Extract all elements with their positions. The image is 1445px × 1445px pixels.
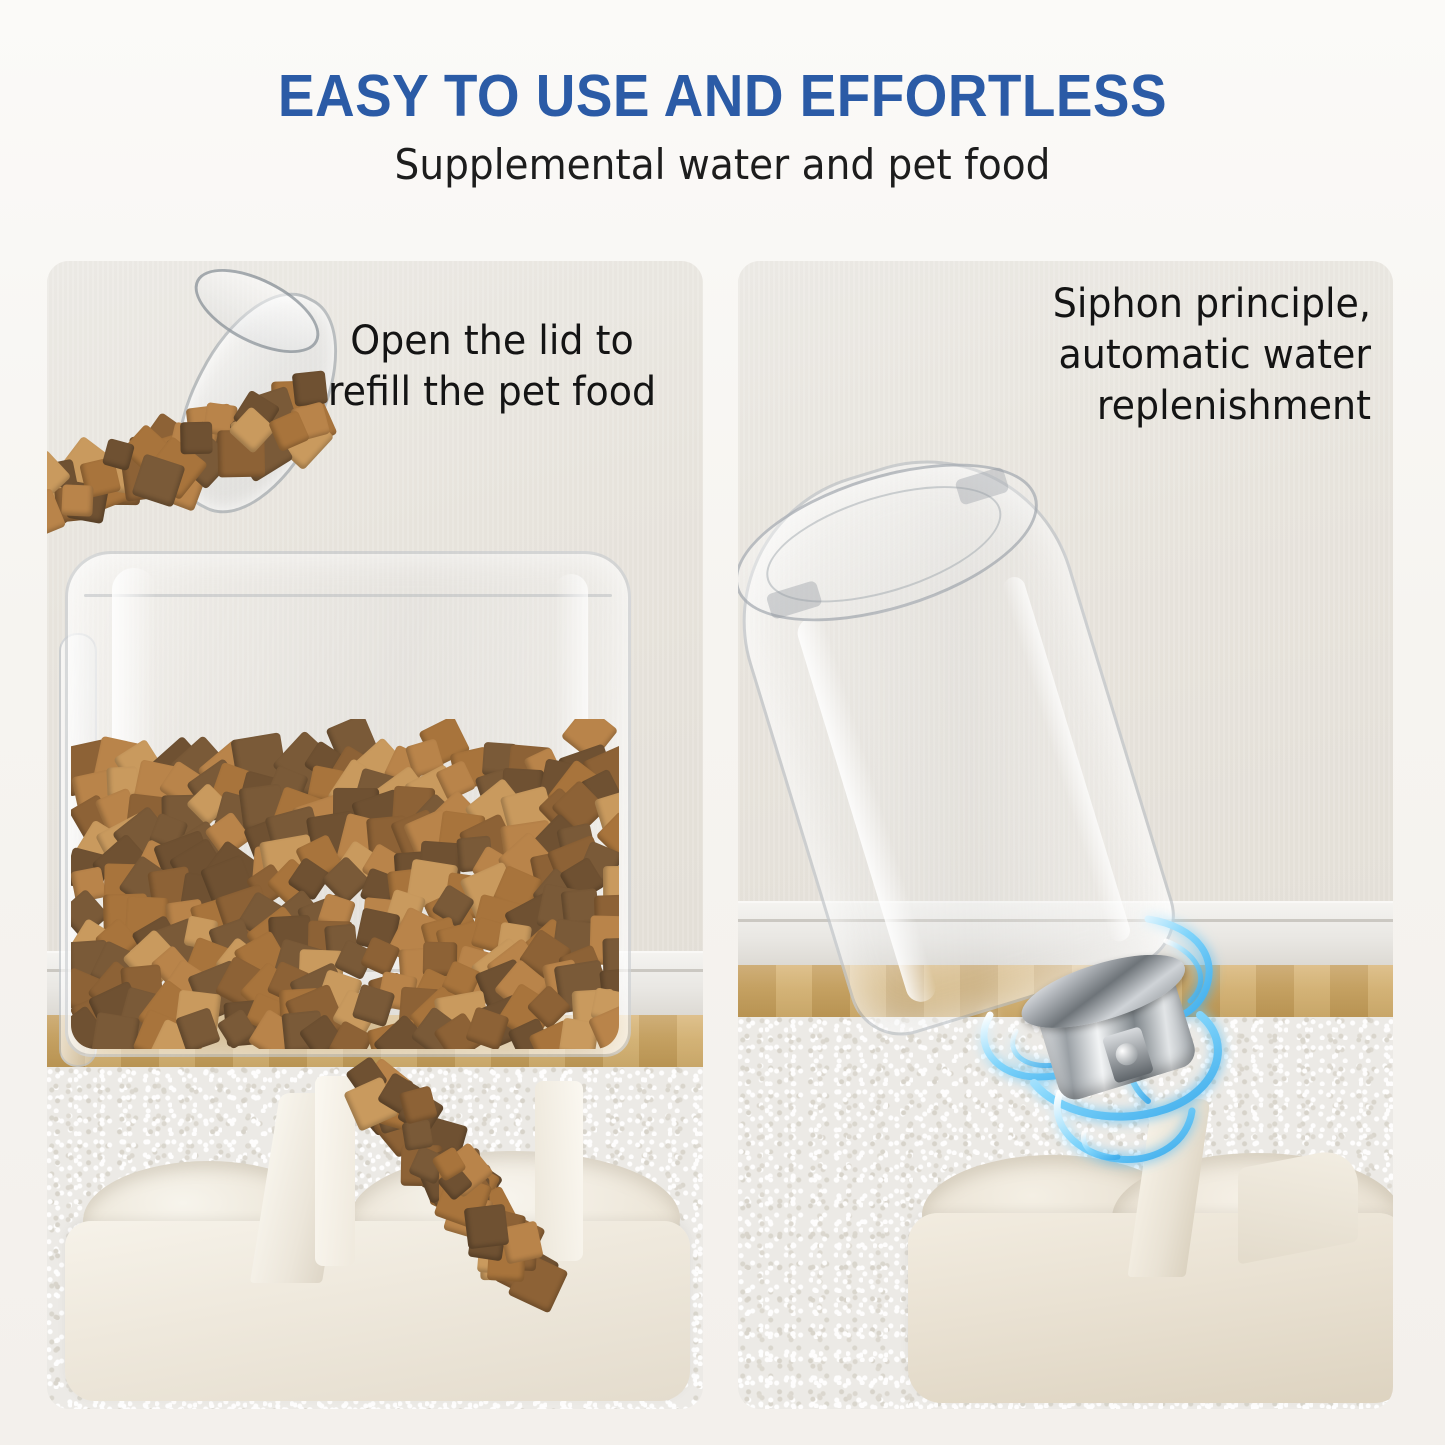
food-hopper [65, 551, 665, 1111]
kibble-piece [180, 421, 213, 454]
kibble-piece [90, 1012, 139, 1049]
kibble-piece [463, 1203, 509, 1249]
hopper-lid-seam [84, 594, 612, 597]
product-infographic: EASY TO USE AND EFFORTLESS Supplemental … [0, 0, 1445, 1445]
caption-right: Siphon principle, automatic water replen… [972, 279, 1371, 433]
refill-scoop [47, 271, 347, 551]
falling-kibble [350, 1066, 550, 1281]
kibble-piece [401, 1119, 434, 1152]
kibble-piece [62, 484, 94, 516]
caption-left: Open the lid to refill the pet food [312, 316, 673, 418]
page-subtitle: Supplemental water and pet food [51, 140, 1395, 189]
feeder-base-left [65, 1101, 690, 1401]
panel-left-food-refill: Open the lid to refill the pet food [47, 261, 703, 1409]
header: EASY TO USE AND EFFORTLESS Supplemental … [0, 0, 1445, 245]
panel-right-water-siphon: Siphon principle, automatic water replen… [738, 261, 1393, 1409]
kibble-fill [71, 719, 619, 1049]
feeder-base-right [908, 1073, 1393, 1403]
pouring-kibble-stream [47, 363, 327, 523]
page-title: EASY TO USE AND EFFORTLESS [51, 62, 1395, 130]
